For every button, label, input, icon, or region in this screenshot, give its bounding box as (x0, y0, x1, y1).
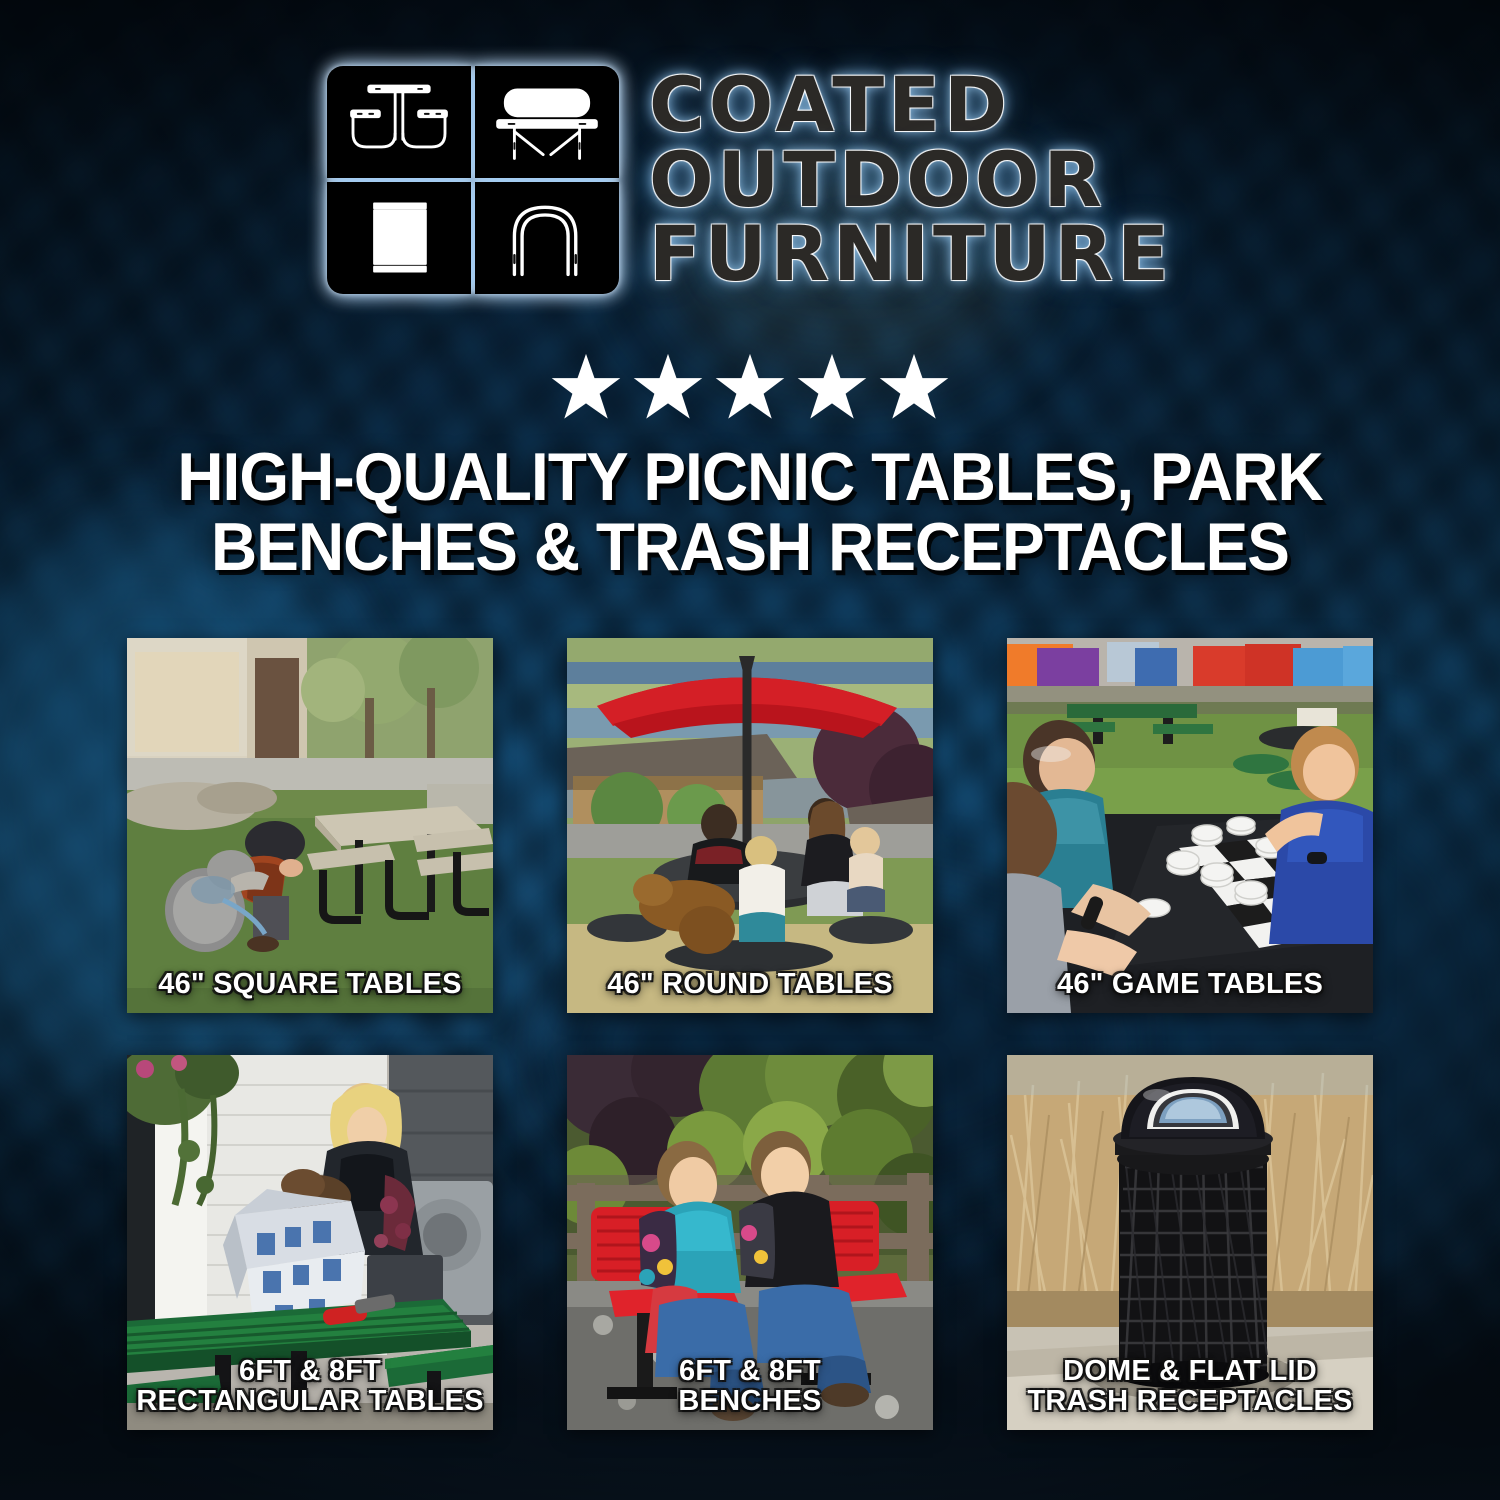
tile-caption-line-1: 46" GAME TABLES (1057, 968, 1323, 1000)
star-icon (714, 352, 786, 422)
headline-line-1: HIGH-QUALITY PICNIC TABLES, PARK (101, 442, 1398, 512)
logo-icon-grid (327, 66, 619, 294)
product-tile-round-tables[interactable]: 46" ROUND TABLES (567, 638, 933, 1013)
product-tile-game-tables[interactable]: 46" GAME TABLES (1007, 638, 1373, 1013)
bike-rack-arch-icon (475, 182, 619, 294)
tile-caption-line-1: 46" ROUND TABLES (607, 968, 893, 1000)
tile-caption: 46" SQUARE TABLES (133, 969, 487, 999)
tile-caption: 46" GAME TABLES (1013, 969, 1367, 999)
tile-caption: 6FT & 8FT BENCHES (573, 1356, 927, 1416)
product-tile-square-tables[interactable]: 46" SQUARE TABLES (127, 638, 493, 1013)
tile-caption: DOME & FLAT LID TRASH RECEPTACLES (1013, 1356, 1367, 1416)
wordmark-line-3: FURNITURE (649, 218, 1173, 291)
star-icon (796, 352, 868, 422)
square-table-dog-photo (127, 638, 493, 1013)
headline-line-2: BENCHES & TRASH RECEPTACLES (101, 512, 1398, 582)
round-table-umbrella-photo (567, 638, 933, 1013)
star-icon (632, 352, 704, 422)
brand-logo: COATED OUTDOOR FURNITURE (0, 66, 1500, 294)
wordmark-line-2: OUTDOOR (649, 144, 1173, 217)
star-icon (550, 352, 622, 422)
tile-caption-line-2: BENCHES (573, 1386, 927, 1416)
star-rating (0, 352, 1500, 422)
product-tile-benches[interactable]: 6FT & 8FT BENCHES (567, 1055, 933, 1430)
wordmark-line-1: COATED (649, 69, 1173, 142)
product-category-grid: 46" SQUARE TABLES (127, 638, 1373, 1430)
brand-wordmark: COATED OUTDOOR FURNITURE (649, 69, 1173, 292)
picnic-table-icon (327, 66, 471, 178)
star-icon (878, 352, 950, 422)
tile-caption-line-2: TRASH RECEPTACLES (1013, 1386, 1367, 1416)
tile-caption-line-1: 6FT & 8FT (679, 1355, 821, 1387)
tile-caption-line-1: DOME & FLAT LID (1063, 1355, 1317, 1387)
tile-caption-line-1: 6FT & 8FT (239, 1355, 381, 1387)
product-tile-rectangular-tables[interactable]: 6FT & 8FT RECTANGULAR TABLES (127, 1055, 493, 1430)
tile-caption-line-2: RECTANGULAR TABLES (133, 1386, 487, 1416)
tile-caption: 46" ROUND TABLES (573, 969, 927, 999)
park-bench-icon (475, 66, 619, 178)
product-tile-trash-receptacles[interactable]: DOME & FLAT LID TRASH RECEPTACLES (1007, 1055, 1373, 1430)
tile-caption: 6FT & 8FT RECTANGULAR TABLES (133, 1356, 487, 1416)
trash-receptacle-icon (327, 182, 471, 294)
page-headline: HIGH-QUALITY PICNIC TABLES, PARK BENCHES… (101, 442, 1398, 582)
tile-caption-line-1: 46" SQUARE TABLES (158, 968, 461, 1000)
marketing-banner: COATED OUTDOOR FURNITURE HIGH-QUALITY PI… (0, 0, 1500, 1500)
game-table-checkers-photo (1007, 638, 1373, 1013)
